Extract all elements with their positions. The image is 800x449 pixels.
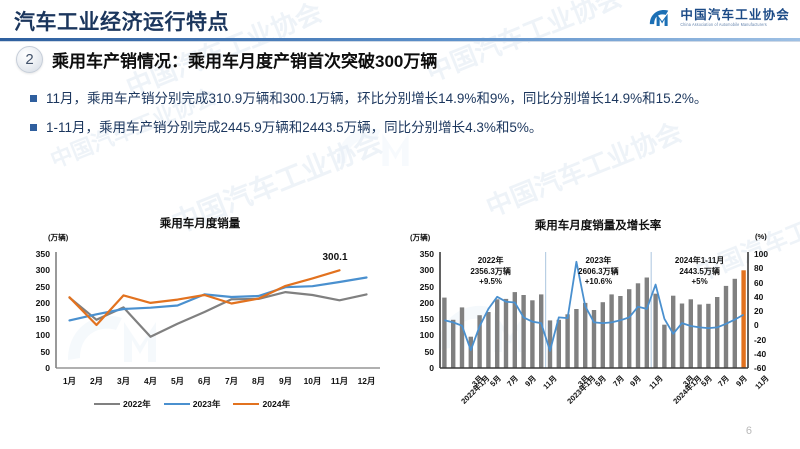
annotation-line: 2356.3万辆: [439, 267, 543, 278]
annotation-line: 2024年1-11月: [648, 256, 752, 267]
chart-annotation: 2023年2606.3万辆+10.6%: [546, 256, 650, 288]
legend-swatch: [233, 403, 259, 406]
brand-logo: 中国汽车工业协会 China Association of Automobile…: [648, 7, 790, 29]
section-title: 乘用车产销情况：乘用车月度产销首次突破300万辆: [52, 47, 437, 72]
annotation-line: 2022年: [439, 256, 543, 267]
annotation-line: 2443.5万辆: [648, 267, 752, 278]
cm-logo-icon: [648, 7, 675, 29]
legend-label: 2022年: [123, 398, 151, 410]
bullet-list: 11月，乘用车产销分别完成310.9万辆和300.1万辆，环比分别增长14.9%…: [30, 88, 782, 146]
legend-label: 2024年: [262, 398, 290, 410]
page-title: 汽车工业经济运行特点: [14, 6, 229, 36]
chart-plot-area: [400, 212, 796, 424]
legend-item-2022年[interactable]: 2022年: [94, 398, 151, 410]
bullet-square-icon: [30, 124, 37, 131]
legend-item-2023年[interactable]: 2023年: [164, 398, 221, 410]
list-item: 11月，乘用车产销分别完成310.9万辆和300.1万辆，环比分别增长14.9%…: [30, 88, 782, 109]
annotation-line: +5%: [648, 277, 752, 288]
brand-name-en: China Association of Automobile Manufact…: [680, 21, 790, 28]
watermark-text: 中国汽车工业协会: [420, 0, 627, 89]
page-number: 6: [746, 425, 752, 437]
section-number-badge: 2: [16, 46, 43, 73]
chart-monthly-sales-by-year: 乘用车月度销量 (万辆) 050100150200250300350 1月2月3…: [10, 212, 390, 424]
bullet-text: 11月，乘用车产销分别完成310.9万辆和300.1万辆，环比分别增长14.9%…: [46, 88, 707, 109]
legend-swatch: [164, 403, 190, 406]
chart-annotation: 2022年2356.3万辆+9.5%: [439, 256, 543, 288]
chart-monthly-sales-and-growth: 乘用车月度销量及增长率 (万辆) (%) 0501001502002503003…: [400, 212, 796, 424]
legend-item-2024年[interactable]: 2024年: [233, 398, 290, 410]
bullet-square-icon: [30, 95, 37, 102]
chart-annotation: 2024年1-11月2443.5万辆+5%: [648, 256, 752, 288]
annotation-line: +10.6%: [546, 277, 650, 288]
slide-root: 中国汽车工业协会 中国汽车工业协会 中国汽车工业协会 中国汽车工业协会 中国汽车…: [0, 0, 800, 449]
bullet-text: 1-11月，乘用车产销分别完成2445.9万辆和2443.5万辆，同比分别增长4…: [46, 117, 542, 138]
annotation-line: 2023年: [546, 256, 650, 267]
annotation-line: +9.5%: [439, 277, 543, 288]
brand-name-cn: 中国汽车工业协会: [680, 9, 790, 22]
chart-value-label: 300.1: [323, 252, 348, 263]
annotation-line: 2606.3万辆: [546, 267, 650, 278]
legend-swatch: [94, 403, 120, 406]
list-item: 1-11月，乘用车产销分别完成2445.9万辆和2443.5万辆，同比分别增长4…: [30, 117, 782, 138]
legend-label: 2023年: [193, 398, 221, 410]
chart-legend: 2022年2023年2024年: [94, 398, 290, 410]
section-heading: 2 乘用车产销情况：乘用车月度产销首次突破300万辆: [16, 46, 437, 73]
chart-plot-area: [10, 212, 390, 424]
header-divider-secondary: [0, 41, 800, 42]
